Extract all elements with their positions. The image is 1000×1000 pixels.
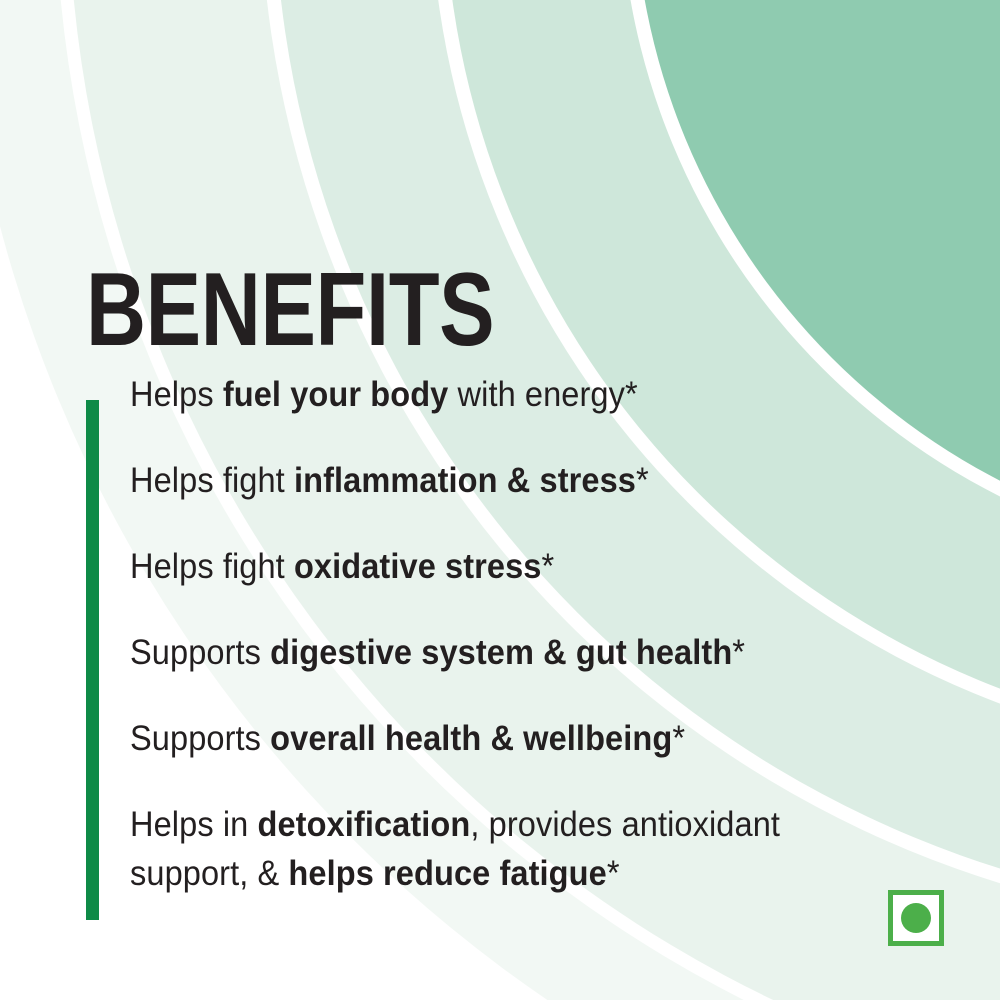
benefit-text: Supports [130,719,270,758]
benefit-text-emphasis: digestive system & gut health [270,633,732,672]
benefit-item: Helps in detoxification, provides antiox… [130,800,883,898]
benefit-text-emphasis: oxidative stress [294,547,542,586]
benefit-item: Supports overall health & wellbeing* [130,714,883,763]
benefit-text-emphasis: detoxification [257,805,470,844]
benefits-poster: BENEFITS Helps fuel your body with energ… [0,0,1000,1000]
benefit-text: * [636,461,649,500]
benefit-text: * [542,547,555,586]
benefit-text: Helps fight [130,547,294,586]
benefit-text: Helps fight [130,461,294,500]
benefit-item: Helps fight inflammation & stress* [130,456,883,505]
benefit-text-emphasis: inflammation & stress [294,461,636,500]
benefit-text: Helps in [130,805,257,844]
benefit-item: Helps fight oxidative stress* [130,542,883,591]
benefit-text: * [672,719,685,758]
benefits-list: Helps fuel your body with energy* Helps … [130,370,940,898]
page-title: BENEFITS [86,258,494,362]
benefit-text: * [732,633,745,672]
benefit-text: with energy* [448,375,637,414]
vegetarian-dot-icon [901,903,931,933]
vegetarian-mark [888,890,944,946]
benefit-item: Supports digestive system & gut health* [130,628,883,677]
benefit-text-emphasis: overall health & wellbeing [270,719,672,758]
benefit-text: Supports [130,633,270,672]
accent-bar [86,400,99,920]
benefit-text-emphasis: helps reduce fatigue [288,854,606,893]
benefit-text: Helps [130,375,223,414]
poster-content: BENEFITS Helps fuel your body with energ… [0,0,1000,1000]
benefit-item: Helps fuel your body with energy* [130,370,883,419]
benefit-text-emphasis: fuel your body [223,375,449,414]
benefit-text: * [607,854,620,893]
